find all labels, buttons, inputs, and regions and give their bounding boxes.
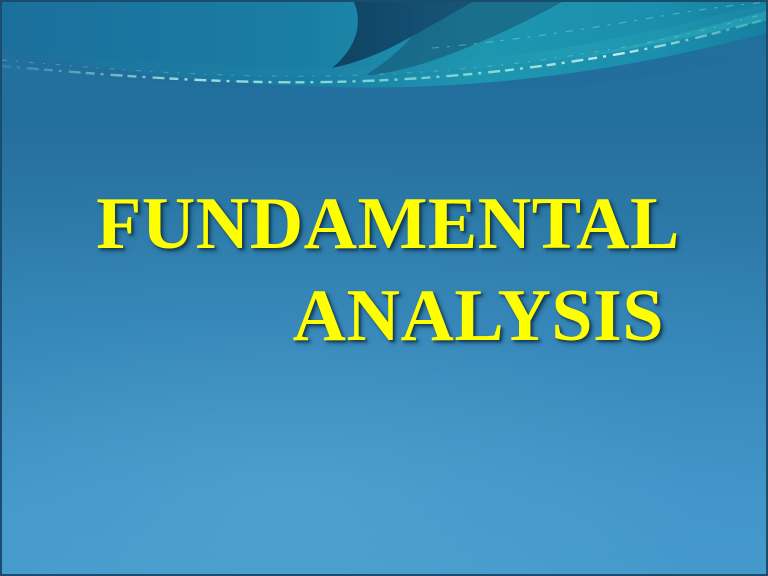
presentation-slide: FUNDAMENTAL ANALYSIS bbox=[0, 0, 768, 576]
title-line-1: FUNDAMENTAL bbox=[58, 178, 718, 270]
slide-title: FUNDAMENTAL ANALYSIS bbox=[2, 178, 768, 362]
title-line-2: ANALYSIS bbox=[58, 270, 718, 362]
